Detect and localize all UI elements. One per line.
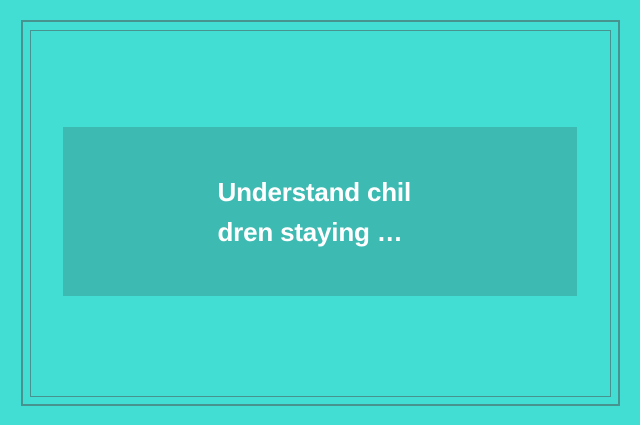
caption-text: Understand chil dren staying … (218, 172, 423, 252)
page-canvas: Understand chil dren staying … (0, 0, 640, 425)
caption-overlay-panel: Understand chil dren staying … (63, 127, 577, 296)
